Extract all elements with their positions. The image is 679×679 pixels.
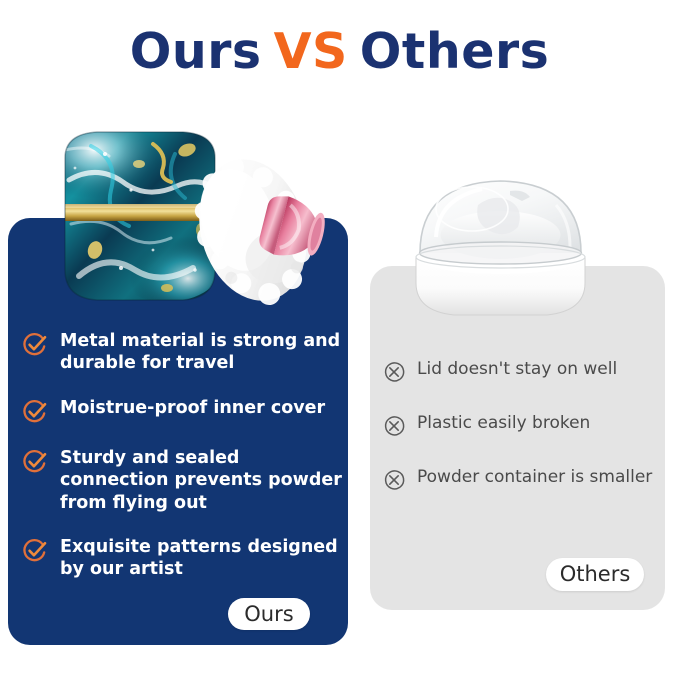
comparison-infographic: OursVSOthers — [0, 0, 679, 679]
list-item-label: Plastic easily broken — [417, 412, 590, 434]
title-ours: Ours — [130, 27, 262, 76]
check-circle-icon — [22, 332, 48, 358]
list-item: Lid doesn't stay on well — [382, 358, 662, 384]
ours-product-image — [35, 120, 335, 325]
list-item: Sturdy and sealed connection prevents po… — [22, 447, 342, 514]
list-item-label: Moistrue-proof inner cover — [60, 397, 325, 419]
ours-badge: Ours — [228, 598, 310, 630]
x-circle-icon — [382, 414, 406, 438]
x-circle-icon — [382, 360, 406, 384]
list-item: Moistrue-proof inner cover — [22, 397, 342, 425]
list-item-label: Exquisite patterns designed by our artis… — [60, 536, 342, 581]
others-product-image — [398, 165, 603, 325]
list-item: Plastic easily broken — [382, 412, 662, 438]
list-item-label: Metal material is strong and durable for… — [60, 330, 342, 375]
list-item: Exquisite patterns designed by our artis… — [22, 536, 342, 581]
x-circle-icon — [382, 468, 406, 492]
page-title: OursVSOthers — [0, 27, 679, 76]
list-item-label: Lid doesn't stay on well — [417, 358, 617, 380]
title-others: Others — [360, 27, 550, 76]
check-circle-icon — [22, 449, 48, 475]
title-vs: VS — [274, 27, 348, 76]
others-feature-list: Lid doesn't stay on well Plastic easily … — [382, 358, 662, 520]
list-item-label: Sturdy and sealed connection prevents po… — [60, 447, 342, 514]
list-item-label: Powder container is smaller — [417, 466, 652, 488]
list-item: Metal material is strong and durable for… — [22, 330, 342, 375]
list-item: Powder container is smaller — [382, 466, 662, 492]
check-circle-icon — [22, 538, 48, 564]
ours-feature-list: Metal material is strong and durable for… — [22, 330, 342, 603]
others-badge: Others — [546, 558, 644, 591]
check-circle-icon — [22, 399, 48, 425]
